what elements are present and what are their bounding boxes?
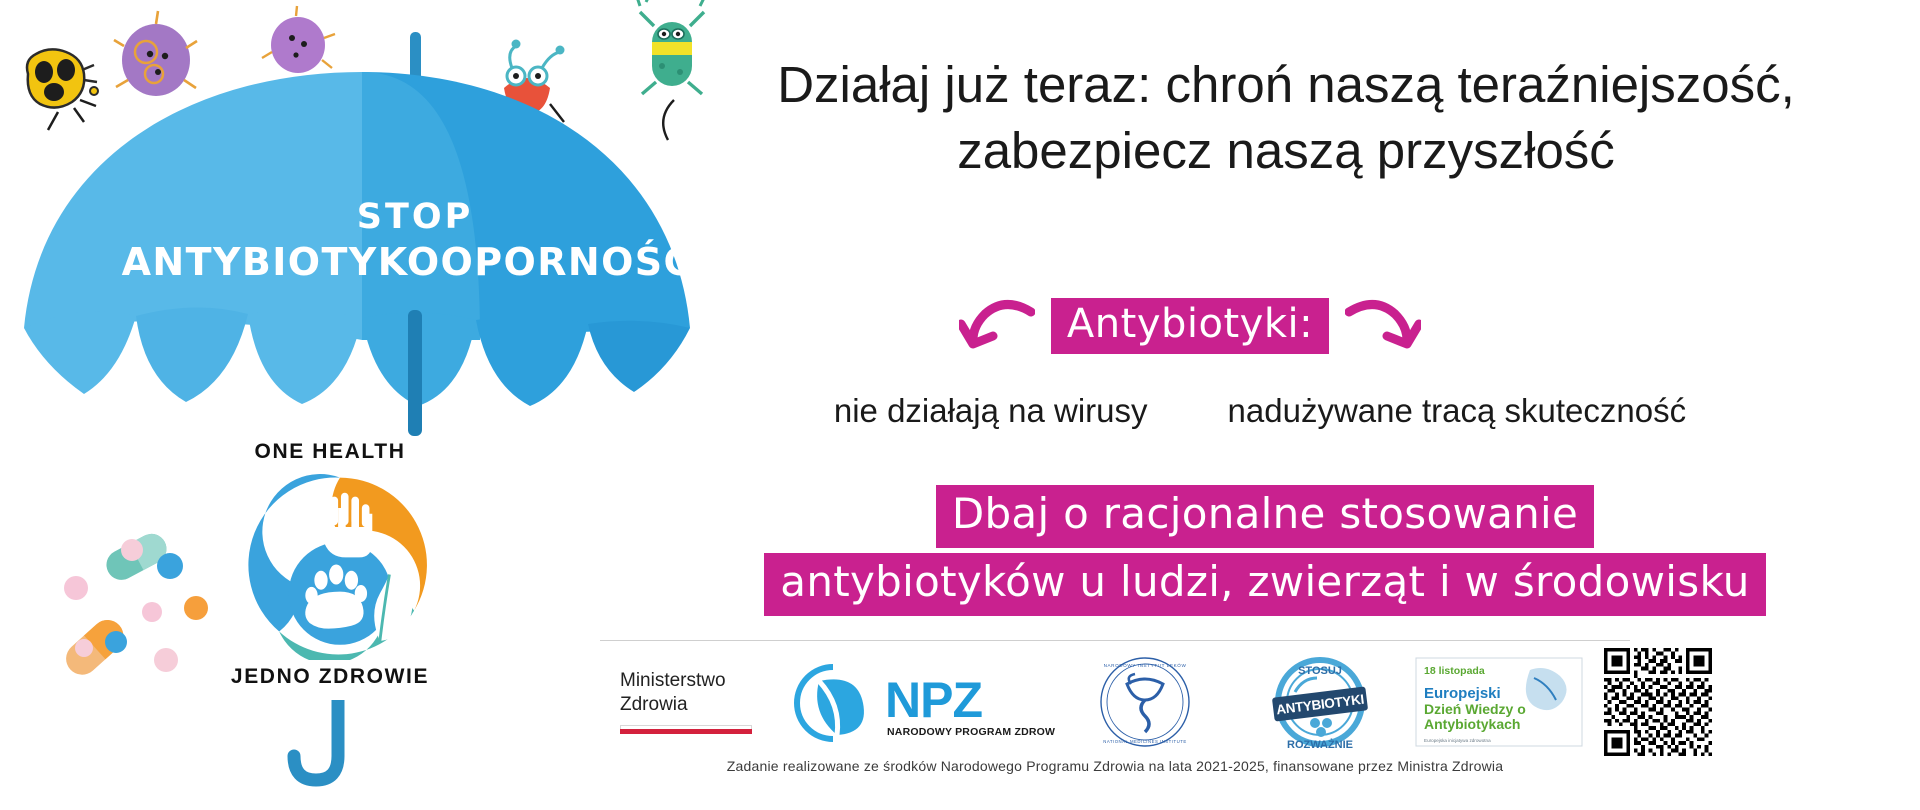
cta-line-1-wrap: Dbaj o racjonalne stosowanie [610,485,1920,548]
npz-subtitle: NARODOWY PROGRAM ZDROWIA [887,726,1055,738]
stamp-bottom: ROZWAŻNIE [1287,738,1353,751]
page-title: Działaj już teraz: chroń naszą teraźniej… [660,52,1912,185]
npz-acronym: NPZ [885,672,982,728]
footer-logo-bar: Ministerstwo Zdrowia NP [600,640,1920,810]
antibiotics-badge-row: Antybiotyki: [840,295,1540,357]
logo-nil: NARODOWY INSTYTUT LEKÓW NATIONAL MEDICIN… [1060,654,1230,750]
eaad-date: 18 listopada [1424,665,1485,677]
cta-line-1: Dbaj o racjonalne stosowanie [936,485,1594,548]
logo-eaad: 18 listopada Europejski Dzień Wiedzy o A… [1410,656,1588,748]
qr-code-icon [1604,648,1712,756]
logo-use-antibiotics-wisely-stamp: STOSUJ ANTYBIOTYKI ROZWAŻNIE [1230,650,1410,754]
logo-ministry-of-health: Ministerstwo Zdrowia [600,669,770,735]
pill-dot-pink [64,576,88,600]
umbrella-handle [280,700,400,800]
ministry-name-line2: Zdrowia [620,693,752,717]
logo-npz: NPZ NARODOWY PROGRAM ZDROWIA [770,659,1060,745]
pill-dot-orange [184,596,208,620]
antibiotics-fact-1: nie działają na wirusy [834,392,1148,430]
asclepius-bowl-icon: NARODOWY INSTYTUT LEKÓW NATIONAL MEDICIN… [1097,654,1193,750]
footer-divider [600,640,1630,641]
eaad-title-1: Europejski [1424,685,1501,702]
pill-dot-blue-2 [105,631,127,653]
campaign-banner: STOP ANTYBIOTYKOOPORNOŚCI ONE HEALTH [0,0,1920,810]
call-to-action: Dbaj o racjonalne stosowanie antybiotykó… [610,485,1920,621]
eaad-title-2: Dzień Wiedzy o [1424,701,1526,717]
round-stamp-icon: STOSUJ ANTYBIOTYKI ROZWAŻNIE [1265,650,1375,754]
pill-dot-pink-5 [75,639,93,657]
funding-disclaimer: Zadanie realizowane ze środków Narodoweg… [600,758,1630,774]
antybiotyki-badge: Antybiotyki: [1051,298,1329,354]
polish-flag-bar-icon [620,725,752,734]
pills-illustration [40,520,280,700]
eaad-title-3: Antybiotykach [1424,716,1520,732]
svg-text:NARODOWY INSTYTUT LEKÓW: NARODOWY INSTYTUT LEKÓW [1104,662,1187,668]
stamp-top: STOSUJ [1298,665,1342,677]
one-health-label: ONE HEALTH [50,440,610,464]
antibiotics-facts: nie działają na wirusy nadużywane tracą … [600,392,1920,430]
antibiotics-fact-2: nadużywane tracą skuteczność [1228,392,1687,430]
eaad-footnote: Europejska inicjatywa zdrowotna [1424,738,1491,743]
pill-dot-pink-3 [142,602,162,622]
qr-code[interactable] [1588,648,1728,756]
curved-arrow-right-icon [1345,298,1421,354]
headline-line-2: zabezpiecz naszą przyszłość [660,118,1912,184]
cta-line-2-wrap: antybiotyków u ludzi, zwierząt i w środo… [610,553,1920,616]
pill-dot-pink-4 [154,648,178,672]
ministry-name-line1: Ministerstwo [620,669,752,693]
pill-dot-blue [157,553,183,579]
pill-dot-pink-2 [121,539,143,561]
curved-arrow-left-icon [959,298,1035,354]
eaad-logo-icon: 18 listopada Europejski Dzień Wiedzy o A… [1414,656,1584,748]
message-column: Działaj już teraz: chroń naszą teraźniej… [660,0,1920,810]
partner-logos: Ministerstwo Zdrowia NP [600,654,1920,749]
headline-line-1: Działaj już teraz: chroń naszą teraźniej… [660,52,1912,118]
umbrella-shaft [408,310,422,436]
npz-leaf-circle-icon [797,667,864,739]
svg-text:NATIONAL MEDICINES INSTITUTE: NATIONAL MEDICINES INSTITUTE [1103,739,1186,744]
cta-line-2: antybiotyków u ludzi, zwierząt i w środo… [764,553,1765,616]
